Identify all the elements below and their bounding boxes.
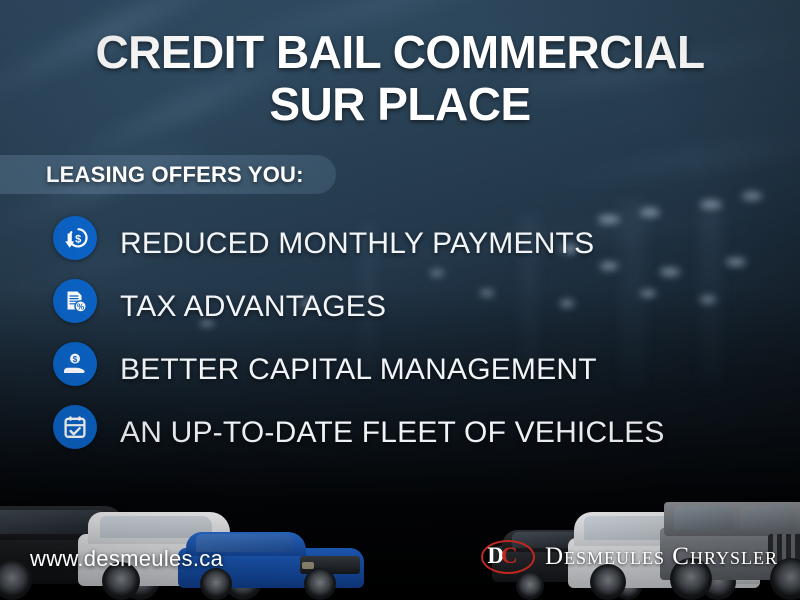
calendar-check-icon [53, 405, 97, 449]
list-item: $ REDUCED MONTHLY PAYMENTS [0, 212, 800, 275]
headline-line-2: SUR PLACE [0, 78, 800, 130]
wheel [0, 560, 32, 600]
list-item-label: BETTER CAPITAL MANAGEMENT [120, 353, 597, 387]
wheel [304, 568, 336, 600]
logo-wordmark: Desmeules Chrysler [545, 543, 778, 571]
list-item-label: REDUCED MONTHLY PAYMENTS [120, 227, 594, 261]
money-down-arrow-icon: $ [53, 216, 97, 260]
svg-text:$: $ [75, 234, 81, 246]
wheel [516, 572, 544, 600]
hand-coin-icon: $ [53, 342, 97, 386]
wheel [200, 568, 232, 600]
document-percent-icon: % [53, 279, 97, 323]
list-item: $ BETTER CAPITAL MANAGEMENT [0, 338, 800, 401]
vehicle-lineup [0, 450, 800, 600]
svg-text:%: % [77, 303, 84, 312]
dc-monogram-icon: D C [481, 540, 535, 574]
page-title: CREDIT BAIL COMMERCIAL SUR PLACE [0, 26, 800, 130]
subtitle-label: LEASING OFFERS YOU: [46, 162, 304, 188]
list-item: % TAX ADVANTAGES [0, 275, 800, 338]
logo-letter-c: C [501, 543, 518, 569]
website-url[interactable]: www.desmeules.ca [30, 546, 223, 572]
svg-text:$: $ [73, 355, 78, 364]
ceiling-lamp [700, 200, 722, 209]
list-item-label: AN UP-TO-DATE FLEET OF VEHICLES [120, 416, 665, 450]
benefits-list: $ REDUCED MONTHLY PAYMENTS [0, 212, 800, 464]
promo-banner: CREDIT BAIL COMMERCIAL SUR PLACE LEASING… [0, 0, 800, 600]
headline-line-1: CREDIT BAIL COMMERCIAL [95, 26, 704, 78]
subtitle-banner: LEASING OFFERS YOU: [0, 155, 336, 194]
list-item-label: TAX ADVANTAGES [120, 290, 386, 324]
dealer-logo[interactable]: D C Desmeules Chrysler [481, 540, 778, 574]
ceiling-lamp [742, 192, 762, 200]
light-streak [520, 125, 800, 193]
